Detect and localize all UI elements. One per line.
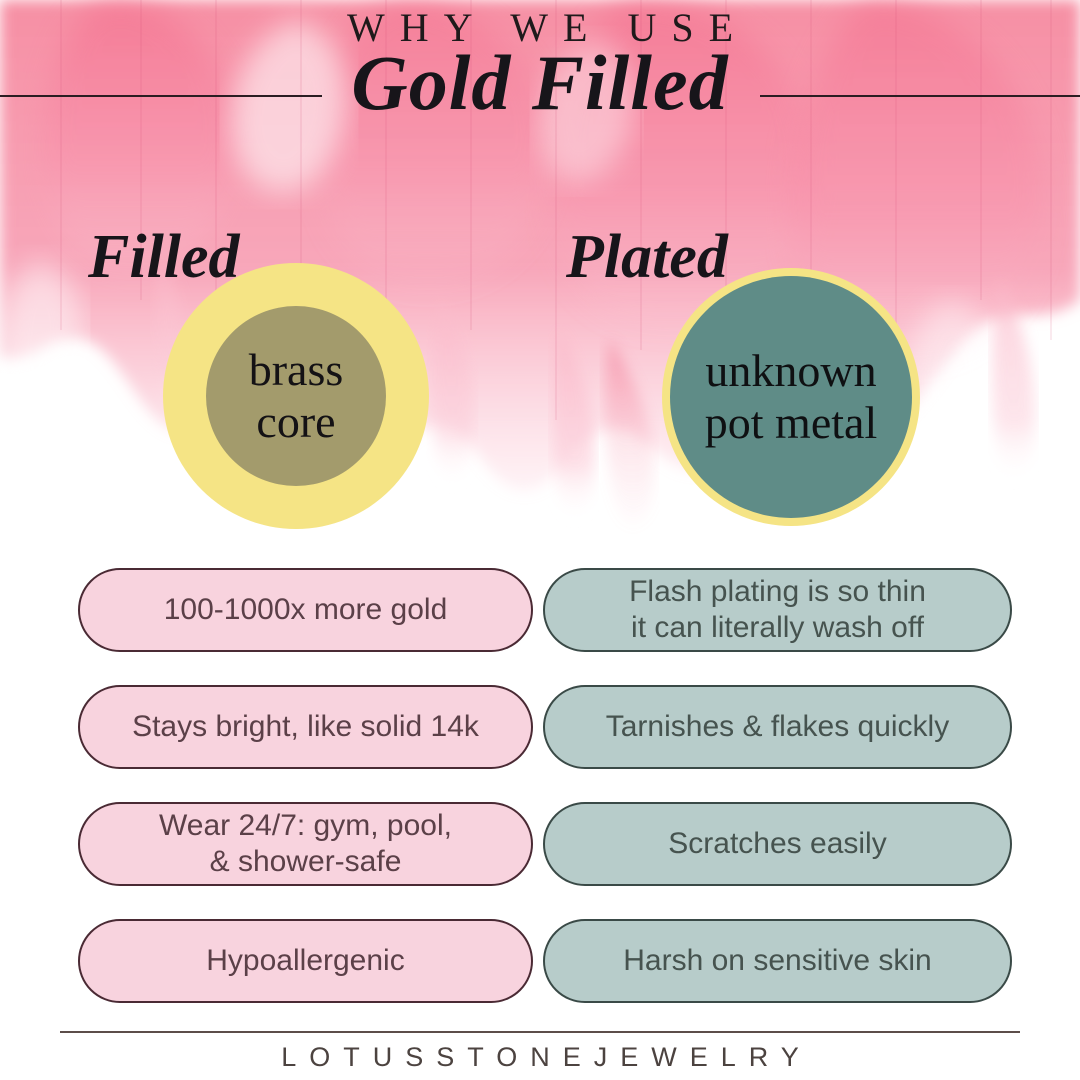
pill-filled-benefit: 100-1000x more gold (78, 568, 533, 652)
brand-wordmark: LOTUSSTONEJEWELRY (0, 1044, 1080, 1071)
pill-plated-drawback: Tarnishes & flakes quickly (543, 685, 1012, 769)
infographic-canvas: WHY WE USE Gold Filled Filled brass core… (0, 0, 1080, 1080)
pill-filled-benefit: Wear 24/7: gym, pool, & shower-safe (78, 802, 533, 886)
filled-core-label: brass core (249, 344, 344, 449)
material-diagram: Filled brass core Plated unknown pot met… (0, 210, 1080, 510)
page-title: Gold Filled (0, 44, 1080, 122)
comparison-row: Wear 24/7: gym, pool, & shower-safe Scra… (78, 802, 1012, 886)
pill-plated-drawback: Scratches easily (543, 802, 1012, 886)
plated-core-label: unknown pot metal (705, 345, 877, 450)
comparison-grid: 100-1000x more gold Flash plating is so … (78, 568, 1012, 1036)
comparison-row: Stays bright, like solid 14k Tarnishes &… (78, 685, 1012, 769)
filled-core: brass core (206, 306, 386, 486)
filled-ring: brass core (163, 263, 429, 529)
header: WHY WE USE Gold Filled (0, 0, 1080, 170)
plated-ring: unknown pot metal (662, 268, 920, 526)
diagram-label-plated: Plated (566, 226, 728, 288)
comparison-row: Hypoallergenic Harsh on sensitive skin (78, 919, 1012, 1003)
pill-filled-benefit: Stays bright, like solid 14k (78, 685, 533, 769)
pill-plated-drawback: Harsh on sensitive skin (543, 919, 1012, 1003)
pill-filled-benefit: Hypoallergenic (78, 919, 533, 1003)
footer-divider (60, 1031, 1020, 1033)
comparison-row: 100-1000x more gold Flash plating is so … (78, 568, 1012, 652)
pill-plated-drawback: Flash plating is so thin it can literall… (543, 568, 1012, 652)
plated-core: unknown pot metal (670, 276, 912, 518)
diagram-label-filled: Filled (88, 226, 240, 288)
